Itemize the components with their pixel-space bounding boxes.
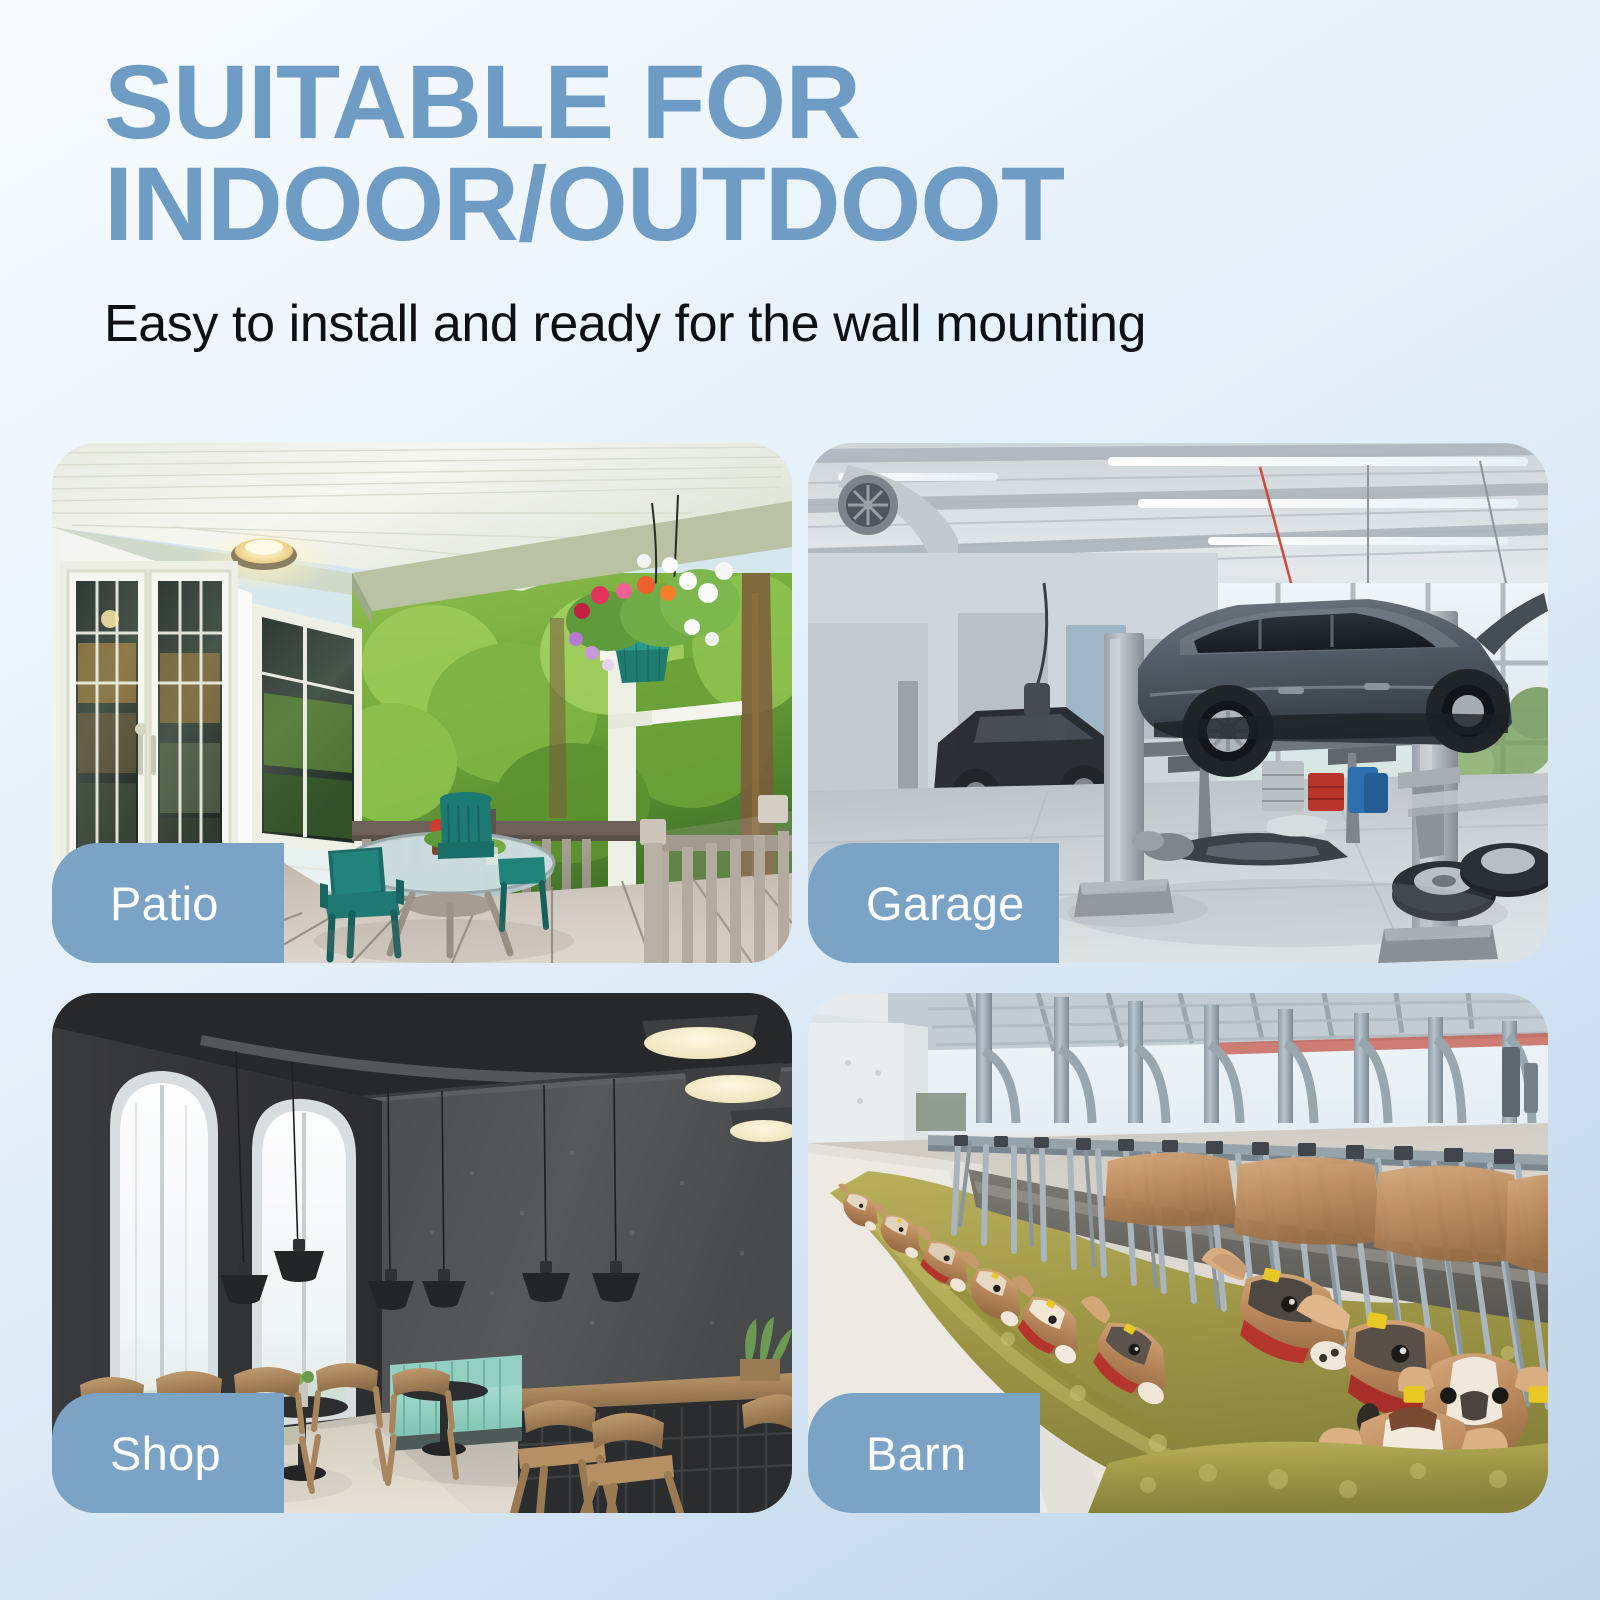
scene-card-barn[interactable]: Barn bbox=[808, 993, 1548, 1513]
page-title: SUITABLE FOR INDOOR/OUTDOOT bbox=[104, 52, 1304, 256]
badge-label: Garage bbox=[866, 880, 1025, 927]
scene-badge-garage: Garage bbox=[808, 843, 1059, 963]
scene-grid: Patio bbox=[52, 443, 1548, 1533]
scene-badge-shop: Shop bbox=[52, 1393, 284, 1513]
badge-label: Barn bbox=[866, 1430, 966, 1477]
scene-badge-barn: Barn bbox=[808, 1393, 1040, 1513]
scene-card-garage[interactable]: Garage bbox=[808, 443, 1548, 963]
badge-label: Shop bbox=[110, 1430, 221, 1477]
scene-card-patio[interactable]: Patio bbox=[52, 443, 792, 963]
scene-card-shop[interactable]: Shop bbox=[52, 993, 792, 1513]
headline-line-1: SUITABLE FOR bbox=[104, 44, 860, 161]
page-subtitle: Easy to install and ready for the wall m… bbox=[104, 294, 1304, 354]
badge-label: Patio bbox=[110, 880, 219, 927]
header-block: SUITABLE FOR INDOOR/OUTDOOT Easy to inst… bbox=[104, 52, 1304, 354]
promotional-infographic: SUITABLE FOR INDOOR/OUTDOOT Easy to inst… bbox=[0, 0, 1600, 1600]
scene-badge-patio: Patio bbox=[52, 843, 284, 963]
headline-line-2: INDOOR/OUTDOOT bbox=[104, 154, 1304, 256]
